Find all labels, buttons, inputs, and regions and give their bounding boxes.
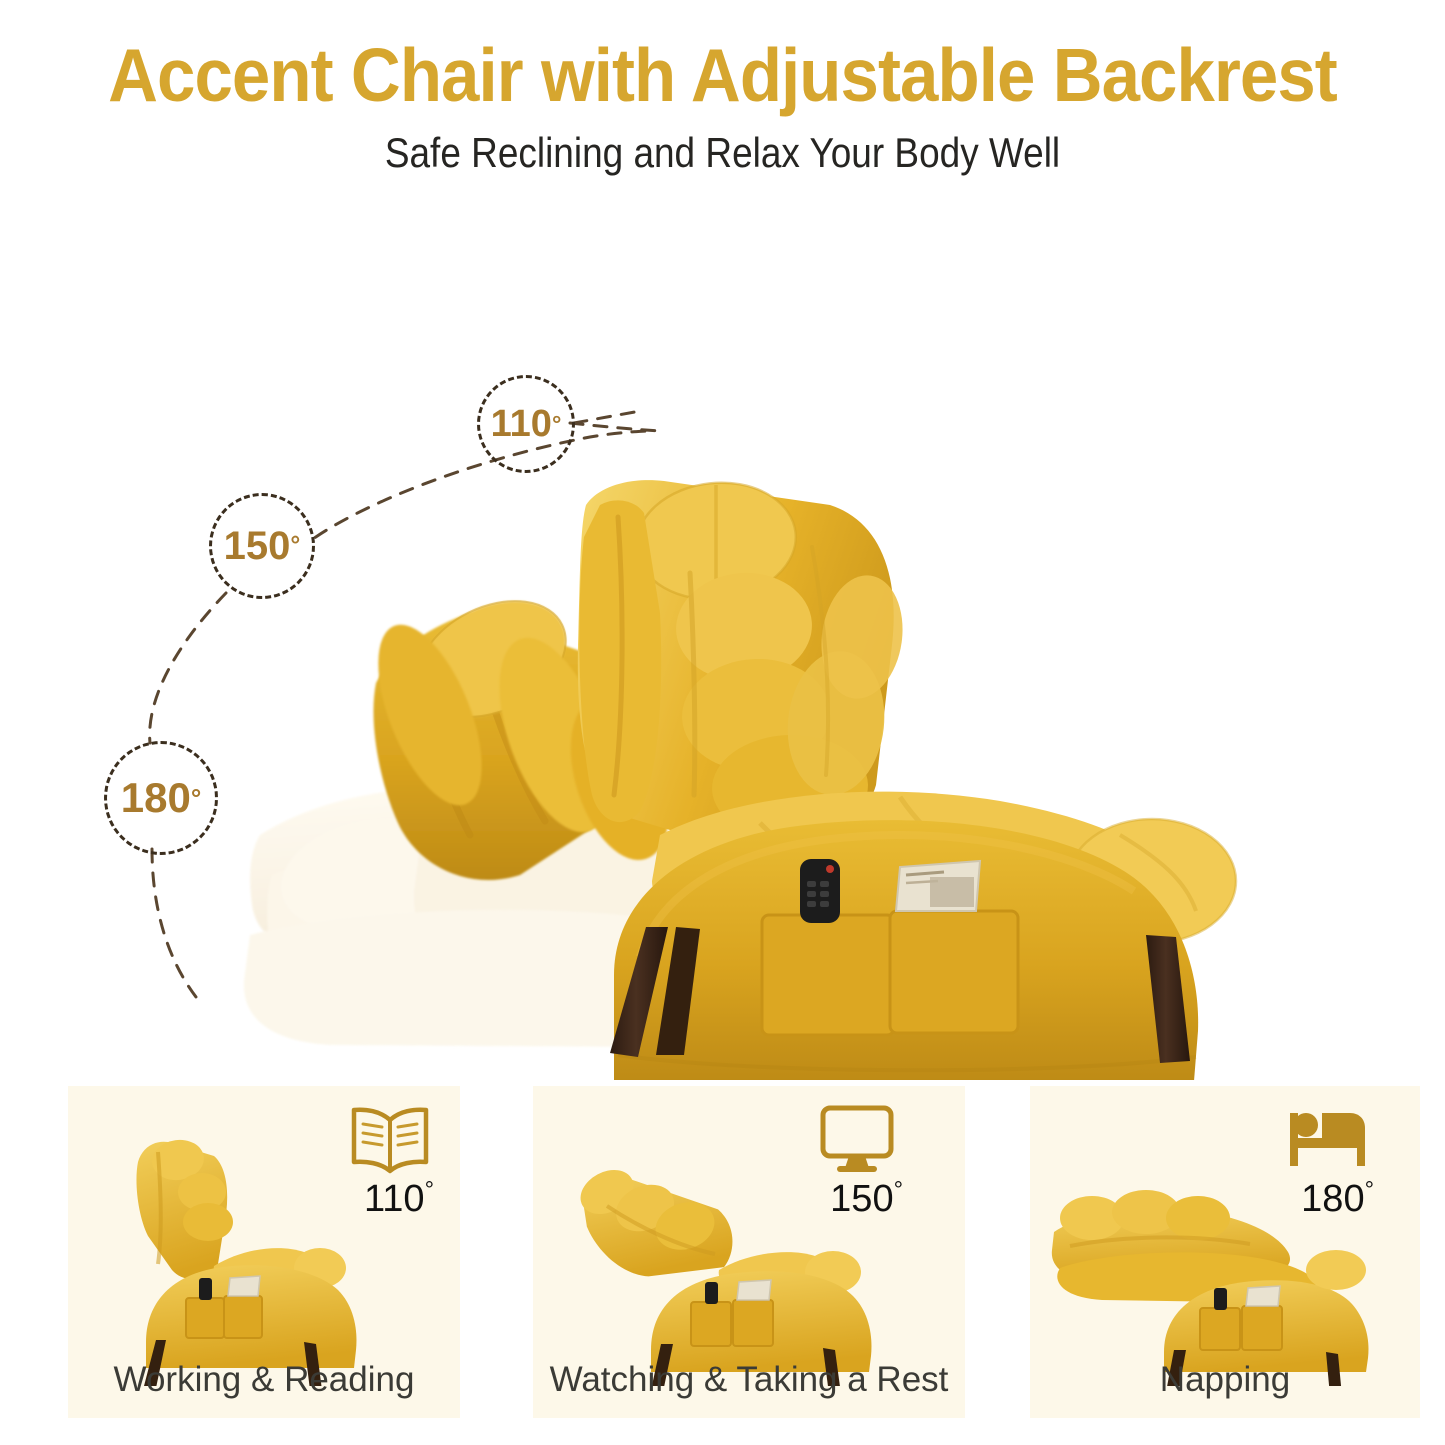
- angle-badge-110: 110°: [477, 375, 575, 473]
- panel-angle-110: 110°: [294, 1178, 434, 1221]
- panel-angle-value: 180: [1301, 1178, 1364, 1220]
- panel-working-reading: 110° Working & Reading: [68, 1086, 460, 1418]
- angle-badge-180: 180°: [104, 741, 218, 855]
- angle-badge-110-value: 110: [491, 403, 552, 446]
- panel-angle-value: 110: [364, 1178, 425, 1220]
- page-subtitle: Safe Reclining and Relax Your Body Well: [87, 129, 1359, 177]
- page-title: Accent Chair with Adjustable Backrest: [58, 38, 1387, 113]
- degree-symbol: °: [894, 1176, 903, 1202]
- product-infographic: Accent Chair with Adjustable Backrest Sa…: [0, 0, 1445, 1445]
- degree-symbol: °: [425, 1176, 434, 1202]
- degree-symbol: °: [1365, 1176, 1374, 1202]
- open-book-icon: [344, 1100, 436, 1178]
- angle-badge-180-value: 180: [121, 774, 191, 822]
- hero-chair-illustration: [0, 175, 1445, 1080]
- hero-image: 110° 150° 180°: [0, 175, 1445, 1080]
- monitor-icon: [811, 1100, 903, 1178]
- panel-angle-150: 150°: [763, 1178, 903, 1221]
- angle-badge-150: 150°: [209, 493, 315, 599]
- panel-watching-rest: 150° Watching & Taking a Rest: [533, 1086, 965, 1418]
- panel-angle-value: 150: [830, 1178, 893, 1220]
- angle-badge-150-value: 150: [224, 524, 291, 569]
- panel-angle-180: 180°: [1234, 1178, 1374, 1221]
- bed-icon: [1280, 1100, 1372, 1178]
- header: Accent Chair with Adjustable Backrest Sa…: [0, 0, 1445, 177]
- usage-panels: 110° Working & Reading: [0, 1086, 1445, 1418]
- panel-caption-watching-rest: Watching & Taking a Rest: [533, 1360, 965, 1400]
- panel-caption-working-reading: Working & Reading: [68, 1360, 460, 1400]
- panel-caption-napping: Napping: [1030, 1360, 1420, 1400]
- panel-napping: 180° Napping: [1030, 1086, 1420, 1418]
